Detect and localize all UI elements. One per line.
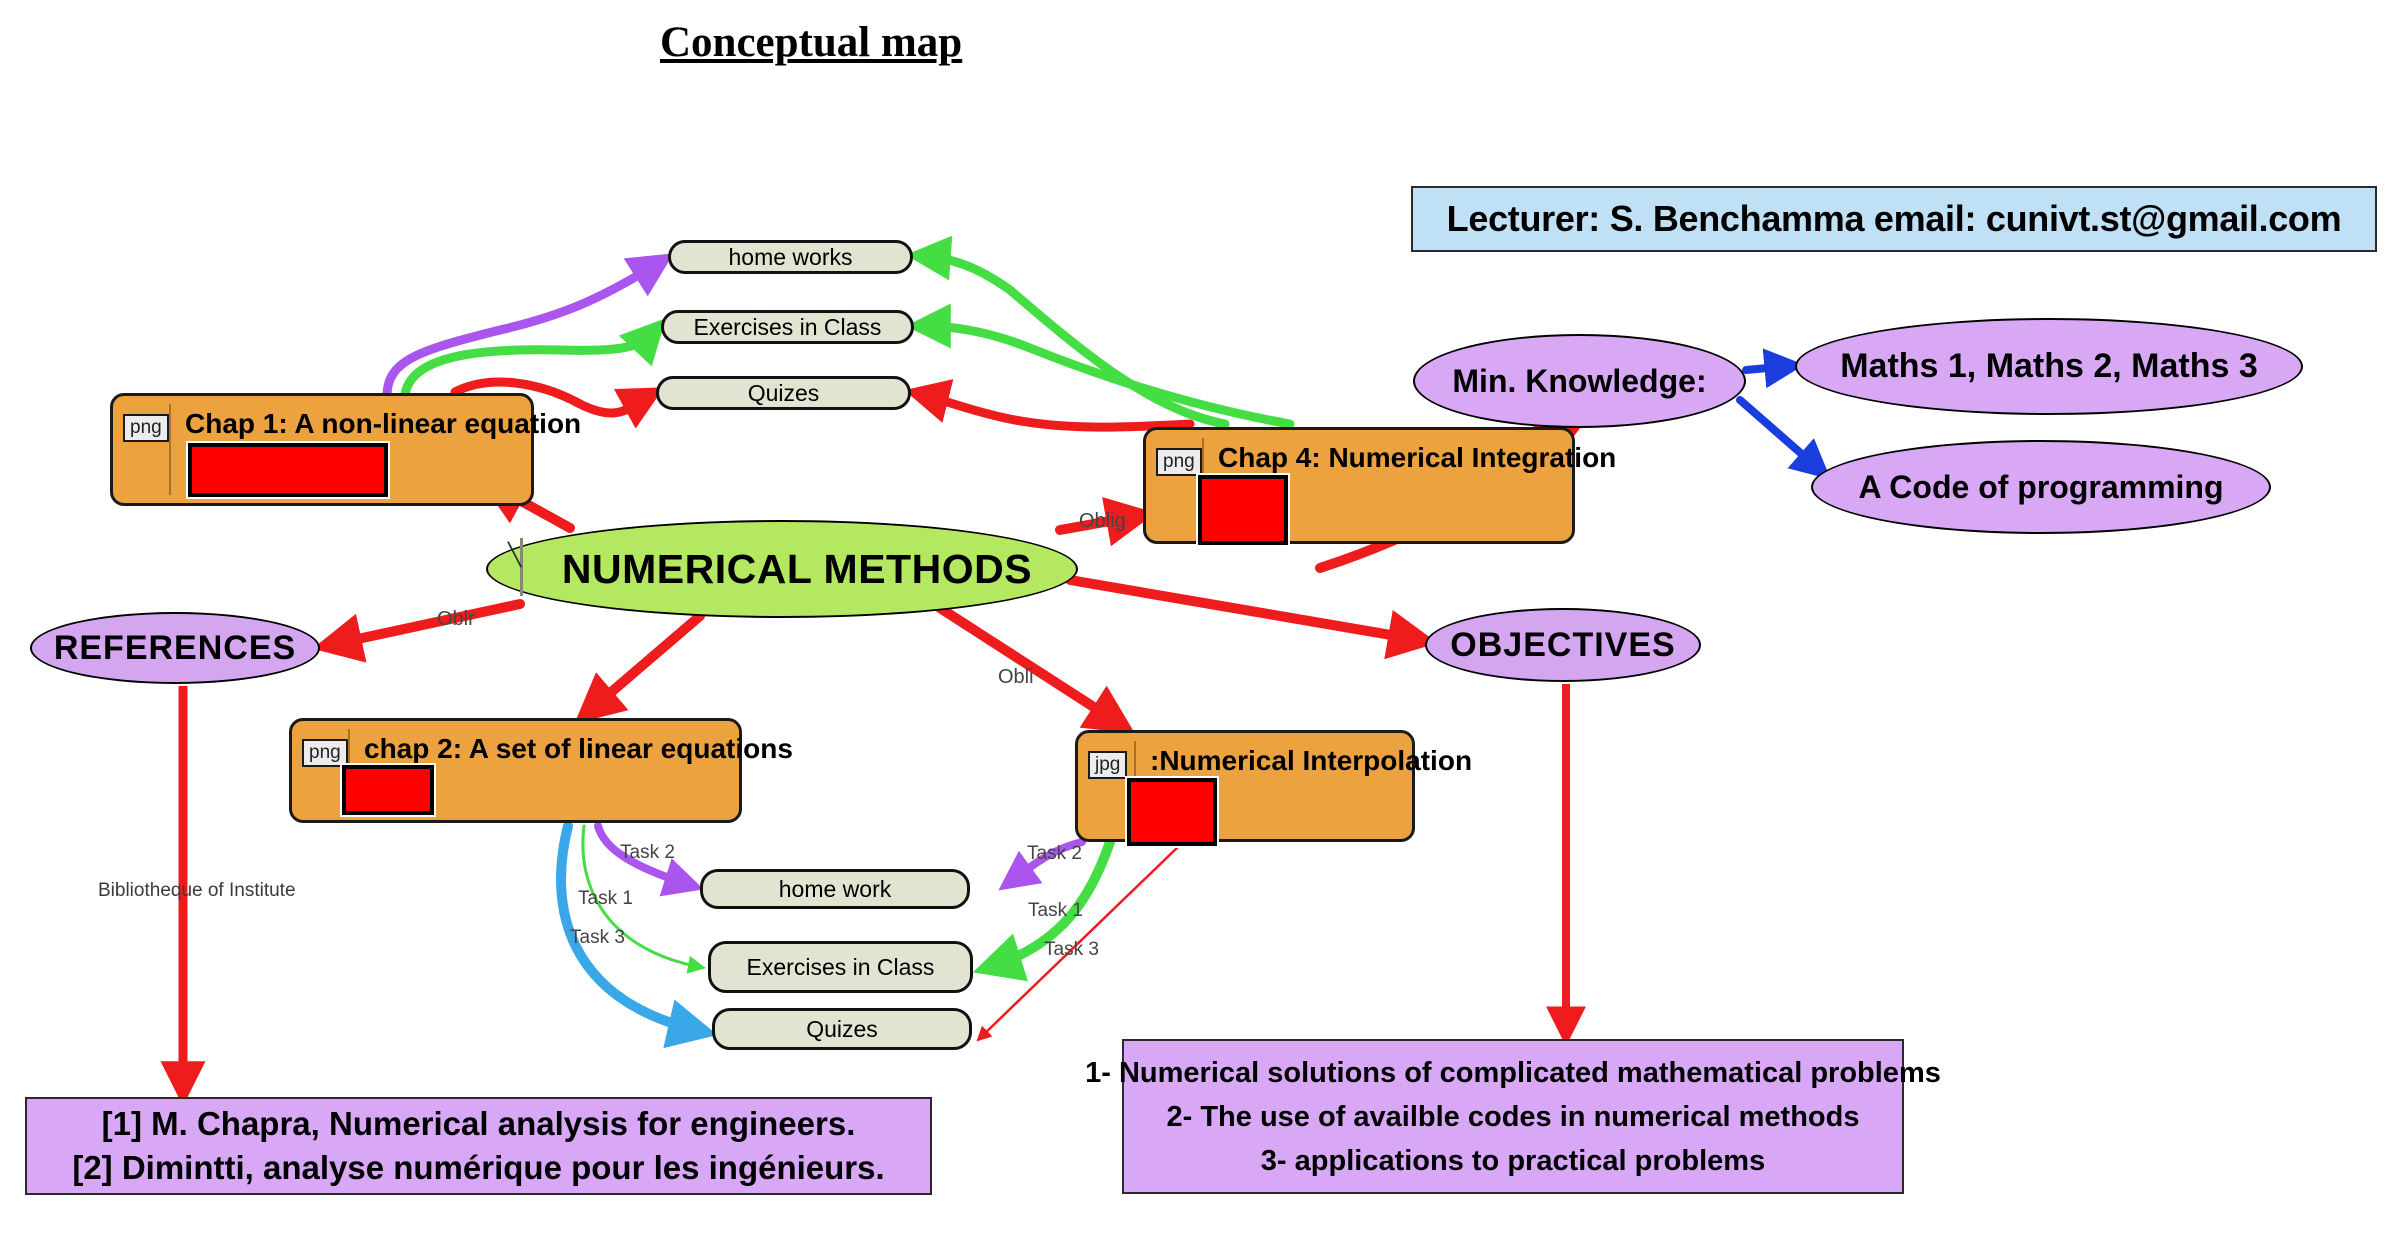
edge-central-objectives xyxy=(1070,580,1420,640)
edge-label-left-task-3: Task 3 xyxy=(570,927,625,949)
edge-central-references xyxy=(330,604,520,645)
card-chap-2[interactable]: png chap 2: A set of linear equations xyxy=(289,718,742,823)
broken-image-placeholder xyxy=(1198,475,1288,545)
edge-chap4-exercises xyxy=(922,326,1290,424)
lecturer-banner-text: Lecturer: S. Benchamma email: cunivt.st@… xyxy=(1447,198,2342,240)
task-label: home work xyxy=(779,876,891,903)
task-box-exercises-bottom[interactable]: Exercises in Class xyxy=(708,941,973,993)
edge-minknowledge-code xyxy=(1740,400,1820,470)
objective-item-2: 2- The use of availble codes in numerica… xyxy=(1167,1095,1860,1139)
broken-image-placeholder xyxy=(342,765,434,815)
edge-label-right-task-1: Task 1 xyxy=(1028,900,1083,922)
edge-label-bibliotheque: Bibliotheque of Institute xyxy=(98,880,296,902)
card-chap-1[interactable]: png Chap 1: A non-linear equation xyxy=(110,393,534,506)
edge-label-right-task-3: Task 3 xyxy=(1044,939,1099,961)
task-box-home-works-top[interactable]: home works xyxy=(668,240,913,274)
node-min-knowledge-label: Min. Knowledge: xyxy=(1452,363,1706,400)
edge-chap1-homeworks xyxy=(387,262,660,396)
objective-item-3: 3- applications to practical problems xyxy=(1261,1139,1765,1183)
node-objectives-label: OBJECTIVES xyxy=(1450,626,1675,665)
task-box-quizes-top[interactable]: Quizes xyxy=(656,376,911,410)
file-type-badge-png: png xyxy=(1156,448,1202,476)
edge-label-oblr-references: Oblr xyxy=(437,608,475,631)
conceptual-map-canvas: Conceptual map Lecturer: S. Benchamma em… xyxy=(0,0,2393,1239)
lecturer-banner: Lecturer: S. Benchamma email: cunivt.st@… xyxy=(1411,186,2377,252)
card-title-chap4: Chap 4: Numerical Integration xyxy=(1218,442,1616,474)
edge-chap4-homeworks xyxy=(922,256,1225,424)
node-objectives[interactable]: OBJECTIVES xyxy=(1425,608,1701,682)
card-title-chap1: Chap 1: A non-linear equation xyxy=(185,408,581,440)
page-title: Conceptual map xyxy=(660,18,962,67)
edge-label-left-task-1: Task 1 xyxy=(578,888,633,910)
objective-item-1: 1- Numerical solutions of complicated ma… xyxy=(1085,1051,1941,1095)
node-min-knowledge[interactable]: Min. Knowledge: xyxy=(1413,334,1746,428)
task-label: Exercises in Class xyxy=(694,314,882,341)
task-label: Exercises in Class xyxy=(747,954,935,981)
central-node-numerical-methods[interactable]: NUMERICAL METHODS xyxy=(486,520,1078,618)
task-label: Quizes xyxy=(806,1016,878,1043)
reference-item-1: [1] M. Chapra, Numerical analysis for en… xyxy=(102,1102,856,1146)
task-box-home-work-bottom[interactable]: home work xyxy=(700,869,970,909)
card-chap-4[interactable]: png Chap 4: Numerical Integration xyxy=(1143,427,1575,544)
card-numerical-interpolation[interactable]: jpg :Numerical Interpolation xyxy=(1075,730,1415,842)
broken-image-placeholder xyxy=(188,443,388,497)
task-label: Quizes xyxy=(748,380,820,407)
task-box-exercises-top[interactable]: Exercises in Class xyxy=(661,310,914,344)
card-title-interpolation: :Numerical Interpolation xyxy=(1150,745,1472,777)
card-title-chap2: chap 2: A set of linear equations xyxy=(364,733,793,765)
node-references[interactable]: REFERENCES xyxy=(30,612,320,684)
panel-references-list: [1] M. Chapra, Numerical analysis for en… xyxy=(25,1097,932,1195)
node-code-label: A Code of programming xyxy=(1858,469,2223,506)
node-code-of-programming[interactable]: A Code of programming xyxy=(1811,440,2271,534)
edge-minknowledge-maths xyxy=(1746,366,1790,370)
task-box-quizes-bottom[interactable]: Quizes xyxy=(712,1008,972,1050)
file-type-badge-png: png xyxy=(123,414,169,442)
panel-objectives-list: 1- Numerical solutions of complicated ma… xyxy=(1122,1039,1904,1194)
node-maths-prerequisites[interactable]: Maths 1, Maths 2, Maths 3 xyxy=(1795,318,2303,415)
file-type-badge-png: png xyxy=(302,739,348,767)
edge-chap4-quizes xyxy=(920,394,1190,427)
pen-icon: ╲ xyxy=(508,546,522,564)
edge-label-right-task-2: Task 2 xyxy=(1027,843,1082,865)
card-divider xyxy=(169,404,171,495)
edge-label-left-task-2: Task 2 xyxy=(620,842,675,864)
edge-label-obli-interpolation: Obli xyxy=(998,666,1034,689)
edge-chap1-exercises xyxy=(405,330,655,395)
node-references-label: REFERENCES xyxy=(54,629,296,668)
edge-label-oblig-chap4: Oblig xyxy=(1079,510,1126,533)
central-node-label: NUMERICAL METHODS xyxy=(532,546,1032,593)
file-type-badge-jpg: jpg xyxy=(1088,751,1127,779)
task-label: home works xyxy=(729,244,853,271)
edge-central-chap2 xyxy=(588,616,700,712)
node-maths-label: Maths 1, Maths 2, Maths 3 xyxy=(1840,347,2258,386)
broken-image-placeholder xyxy=(1127,778,1217,846)
reference-item-2: [2] Dimintti, analyse numérique pour les… xyxy=(72,1146,884,1190)
